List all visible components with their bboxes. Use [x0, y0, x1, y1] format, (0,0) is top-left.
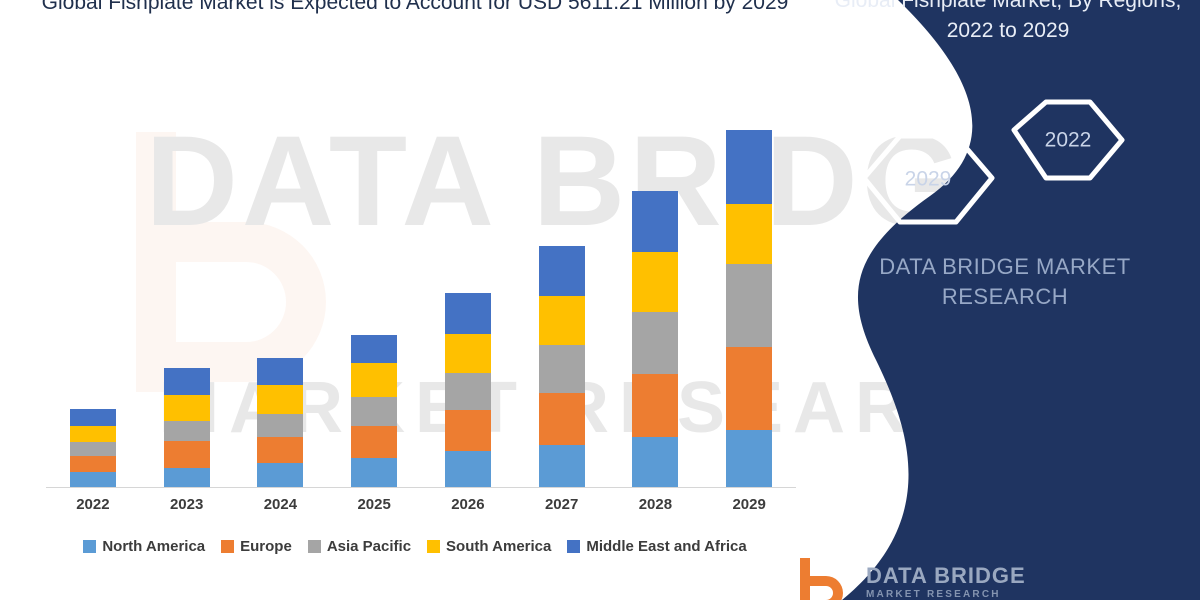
bar-segment[interactable] [70, 456, 116, 472]
bar-segment[interactable] [70, 472, 116, 487]
bar-segment[interactable] [257, 414, 303, 437]
infographic-root: DATA BRIDGE MARKET RESEARCH Global Fishp… [0, 0, 1200, 600]
legend-swatch-icon [427, 540, 440, 553]
legend-swatch-icon [308, 540, 321, 553]
hexagon-2022-label: 2022 [1045, 129, 1092, 152]
bar-segment[interactable] [257, 437, 303, 463]
legend-swatch-icon [83, 540, 96, 553]
bar-segment[interactable] [726, 264, 772, 347]
bar-segment[interactable] [164, 368, 210, 394]
hexagon-group: 2022 2029 [836, 88, 1196, 248]
legend-item[interactable]: Europe [221, 538, 292, 555]
bar-segment[interactable] [726, 347, 772, 429]
legend-label: North America [102, 538, 205, 555]
page-title: Global Fishplate Market is Expected to A… [30, 0, 800, 18]
x-axis-line [46, 487, 796, 488]
legend-label: Asia Pacific [327, 538, 411, 555]
hexagon-2029-label: 2029 [905, 168, 952, 191]
bar-segment[interactable] [632, 191, 678, 251]
legend-swatch-icon [221, 540, 234, 553]
x-axis-tick-label: 2028 [610, 496, 700, 513]
legend-label: Middle East and Africa [586, 538, 746, 555]
legend-label: Europe [240, 538, 292, 555]
bar-segment[interactable] [539, 246, 585, 296]
chart-panel: Global Fishplate Market is Expected to A… [0, 0, 830, 600]
company-logo: DATA BRIDGE MARKET RESEARCH [794, 556, 1194, 600]
bar-segment[interactable] [164, 421, 210, 441]
side-panel-content: Global Fishplate Market, By Regions, 202… [780, 0, 1200, 600]
stacked-bar[interactable] [257, 358, 303, 487]
x-axis-tick-label: 2027 [517, 496, 607, 513]
bar-column [48, 120, 138, 487]
bar-segment[interactable] [726, 130, 772, 204]
bar-segment[interactable] [351, 397, 397, 426]
x-axis-tick-label: 2023 [142, 496, 232, 513]
bar-segment[interactable] [539, 345, 585, 393]
x-axis-tick-label: 2024 [235, 496, 325, 513]
side-panel: Global Fishplate Market, By Regions, 202… [780, 0, 1200, 600]
bar-segment[interactable] [351, 335, 397, 363]
stacked-bar[interactable] [164, 368, 210, 487]
bar-segment[interactable] [257, 358, 303, 385]
stacked-bar[interactable] [445, 293, 491, 487]
bar-segment[interactable] [351, 363, 397, 396]
x-axis-tick-label: 2026 [423, 496, 513, 513]
bar-segment[interactable] [445, 373, 491, 409]
bar-segment[interactable] [445, 451, 491, 487]
bar-column [610, 120, 700, 487]
legend-label: South America [446, 538, 551, 555]
brand-line2: RESEARCH [820, 282, 1190, 312]
legend-item[interactable]: South America [427, 538, 551, 555]
legend-item[interactable]: Asia Pacific [308, 538, 411, 555]
bar-segment[interactable] [539, 296, 585, 345]
bar-segment[interactable] [726, 430, 772, 487]
bar-segment[interactable] [632, 437, 678, 487]
bar-segment[interactable] [445, 293, 491, 334]
x-axis-tick-label: 2025 [329, 496, 419, 513]
bar-segment[interactable] [539, 445, 585, 487]
stacked-bar[interactable] [726, 130, 772, 487]
stacked-bar[interactable] [351, 335, 397, 487]
bar-segment[interactable] [257, 385, 303, 413]
bar-segment[interactable] [539, 393, 585, 444]
bar-segment[interactable] [726, 204, 772, 263]
stacked-bar[interactable] [632, 191, 678, 487]
side-panel-title: Global Fishplate Market, By Regions, 202… [828, 0, 1188, 46]
bar-column [235, 120, 325, 487]
bar-segment[interactable] [632, 312, 678, 374]
legend-item[interactable]: North America [83, 538, 205, 555]
logo-mark-icon [794, 556, 856, 600]
bar-segment[interactable] [164, 468, 210, 487]
stacked-bar[interactable] [539, 246, 585, 487]
brand-line1: DATA BRIDGE MARKET [820, 252, 1190, 282]
chart-legend: North AmericaEuropeAsia PacificSouth Ame… [20, 538, 810, 555]
bar-column [329, 120, 419, 487]
legend-item[interactable]: Middle East and Africa [567, 538, 746, 555]
stacked-bar[interactable] [70, 409, 116, 487]
brand-name: DATA BRIDGE MARKET RESEARCH [820, 252, 1190, 312]
logo-text: DATA BRIDGE MARKET RESEARCH [866, 556, 1026, 600]
bar-segment[interactable] [445, 410, 491, 451]
bar-segment[interactable] [164, 395, 210, 421]
x-axis-labels: 20222023202420252026202720282029 [46, 496, 796, 513]
bar-segment[interactable] [257, 463, 303, 487]
bar-column [517, 120, 607, 487]
bar-column [423, 120, 513, 487]
bar-segment[interactable] [70, 426, 116, 442]
logo-main-text: DATA BRIDGE [866, 564, 1026, 588]
legend-swatch-icon [567, 540, 580, 553]
bar-segment[interactable] [632, 374, 678, 436]
bar-segment[interactable] [351, 458, 397, 487]
bar-segment[interactable] [70, 409, 116, 426]
bar-segment[interactable] [70, 442, 116, 456]
bar-segment[interactable] [164, 441, 210, 468]
stacked-bar-chart [46, 120, 796, 487]
bar-segment[interactable] [351, 426, 397, 458]
logo-sub-text: MARKET RESEARCH [866, 588, 1026, 600]
bar-segment[interactable] [445, 334, 491, 373]
bar-column [142, 120, 232, 487]
x-axis-tick-label: 2022 [48, 496, 138, 513]
bar-segment[interactable] [632, 252, 678, 312]
